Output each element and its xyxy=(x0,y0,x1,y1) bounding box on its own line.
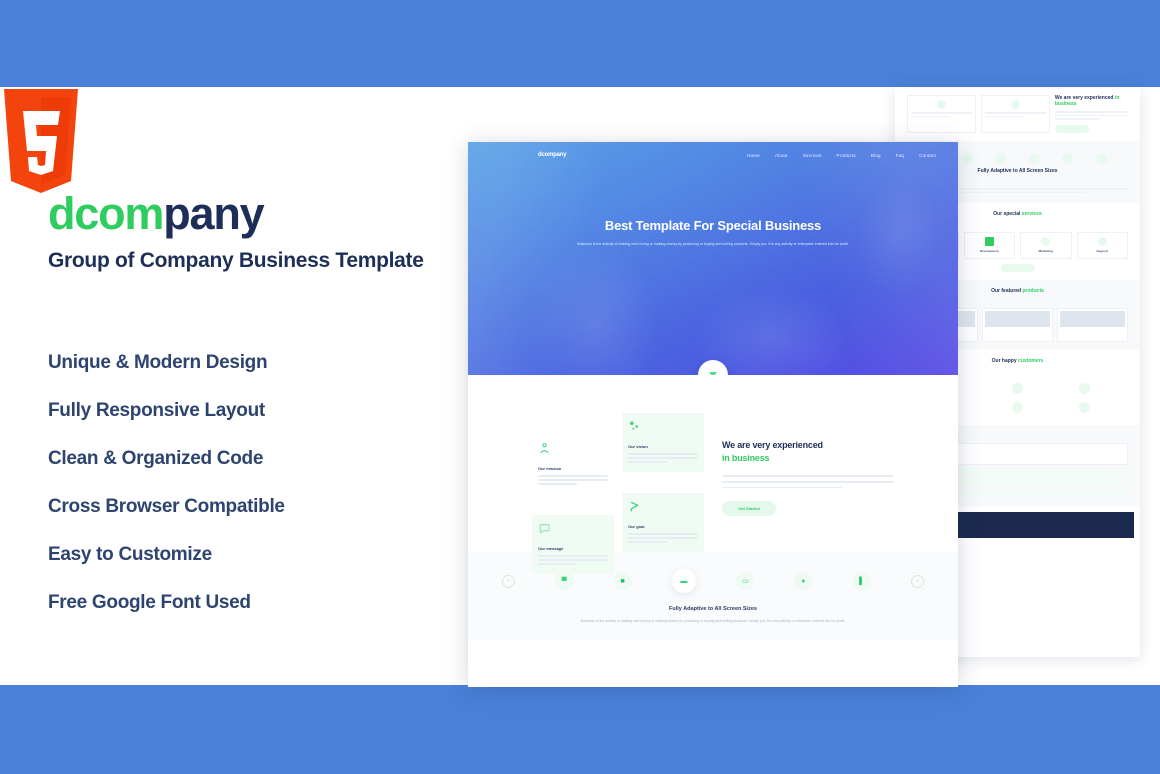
nav-item-faq[interactable]: Faq xyxy=(896,153,904,158)
value-card-label: Our vision xyxy=(628,444,698,449)
site-navbar: dcompany Home About Services Products Bl… xyxy=(468,142,958,158)
hero-section: dcompany Home About Services Products Bl… xyxy=(468,142,958,375)
watch-icon[interactable]: ● xyxy=(794,572,812,590)
support-icon xyxy=(1098,237,1107,246)
development-icon xyxy=(985,237,994,246)
nav-item-services[interactable]: Services xyxy=(803,153,822,158)
hero-text-block: Best Template For Special Business Busin… xyxy=(468,218,958,249)
mission-icon xyxy=(937,100,946,109)
back-about-section: We are very experienced in business xyxy=(895,87,1140,141)
service-card[interactable]: Support xyxy=(1077,232,1129,259)
about-title: We are very experienced in business xyxy=(722,439,894,465)
get-started-button[interactable]: Get Started xyxy=(722,501,776,516)
chevron-down-icon xyxy=(709,372,717,375)
feature-item: Clean & Organized Code xyxy=(48,448,285,470)
service-card[interactable]: Marketing xyxy=(1020,232,1072,259)
value-card-message[interactable]: Our message xyxy=(532,515,614,574)
top-blue-band xyxy=(0,0,1160,87)
back-about-title: We are very experienced in business xyxy=(1055,95,1128,107)
adaptive-title: Fully Adaptive to All Screen Sizes xyxy=(498,606,928,612)
tablet-icon[interactable] xyxy=(962,153,973,164)
feature-item: Free Google Font Used xyxy=(48,592,285,614)
next-arrow-icon[interactable]: › xyxy=(911,575,924,588)
value-card-mission[interactable]: Our mission xyxy=(532,435,614,494)
value-card-vision[interactable]: Our vision xyxy=(622,413,704,472)
product-card[interactable] xyxy=(1057,308,1128,342)
feature-item: Easy to Customize xyxy=(48,544,285,566)
value-card-goal[interactable]: Our goal xyxy=(622,493,704,552)
service-card[interactable]: Development xyxy=(964,232,1016,259)
feature-item: Unique & Modern Design xyxy=(48,352,285,374)
brand-wordmark: dcompany xyxy=(48,191,263,236)
back-get-started-button[interactable] xyxy=(1055,125,1089,133)
value-card-label: Our mission xyxy=(538,466,608,471)
homepage-preview[interactable]: dcompany Home About Services Products Bl… xyxy=(468,142,958,687)
brand-first-part: dcom xyxy=(48,188,163,239)
vision-icon xyxy=(628,420,641,433)
about-title-dark: We are very experienced xyxy=(722,440,823,450)
customer-avatar xyxy=(1012,383,1023,394)
brand-second-part: pany xyxy=(163,188,263,239)
promo-panel: dcompany Group of Company Business Templ… xyxy=(0,87,470,685)
feature-item: Fully Responsive Layout xyxy=(48,400,285,422)
goal-icon xyxy=(628,500,641,513)
nav-item-contact[interactable]: Contact xyxy=(919,153,936,158)
mobile-icon[interactable]: ▀ xyxy=(555,572,573,590)
bottom-blue-band xyxy=(0,685,1160,774)
nav-item-products[interactable]: Products xyxy=(837,153,856,158)
promo-tagline: Group of Company Business Template xyxy=(48,249,424,273)
nav-item-about[interactable]: About xyxy=(775,153,788,158)
html5-logo-icon xyxy=(0,89,86,201)
marketing-icon xyxy=(1041,237,1050,246)
customer-avatar xyxy=(1079,383,1090,394)
about-section: Our mission Our vision Our message xyxy=(468,375,958,516)
mission-icon xyxy=(538,442,551,455)
feature-list: Unique & Modern Design Fully Responsive … xyxy=(48,352,285,640)
value-card-label: Our goal xyxy=(628,524,698,529)
hero-subtitle: Business is the activity of making one's… xyxy=(468,241,958,249)
product-card[interactable] xyxy=(982,308,1053,342)
hero-background-photo xyxy=(468,142,958,375)
about-title-green: in business xyxy=(722,453,769,463)
tablet-icon[interactable]: ■ xyxy=(614,572,632,590)
nav-item-home[interactable]: Home xyxy=(747,153,760,158)
back-card xyxy=(907,95,976,133)
nav-menu: Home About Services Products Blog Faq Co… xyxy=(747,153,936,158)
nav-item-blog[interactable]: Blog xyxy=(871,153,881,158)
customer-avatar xyxy=(1012,402,1023,413)
adaptive-text: Business is the activity of making one's… xyxy=(498,618,928,625)
watch-icon[interactable] xyxy=(1062,153,1073,164)
feature-item: Cross Browser Compatible xyxy=(48,496,285,518)
phone-icon[interactable] xyxy=(1096,153,1107,164)
site-logo[interactable]: dcompany xyxy=(538,152,566,158)
value-card-grid: Our mission Our vision Our message xyxy=(532,413,704,516)
about-text-block: We are very experienced in business Get … xyxy=(722,413,894,516)
back-services-button[interactable] xyxy=(1001,264,1035,272)
laptop-icon[interactable] xyxy=(995,153,1006,164)
hero-title: Best Template For Special Business xyxy=(468,218,958,233)
prev-arrow-icon[interactable]: ‹ xyxy=(502,575,515,588)
customer-avatar xyxy=(1079,402,1090,413)
desktop-icon[interactable] xyxy=(1029,153,1040,164)
value-card-label: Our message xyxy=(538,546,608,551)
back-card xyxy=(981,95,1050,133)
desktop-icon[interactable]: ▭ xyxy=(736,572,754,590)
message-icon xyxy=(538,522,551,535)
phone-icon[interactable]: ▌ xyxy=(853,572,871,590)
vision-icon xyxy=(1011,100,1020,109)
laptop-icon[interactable]: ▬ xyxy=(672,569,696,593)
